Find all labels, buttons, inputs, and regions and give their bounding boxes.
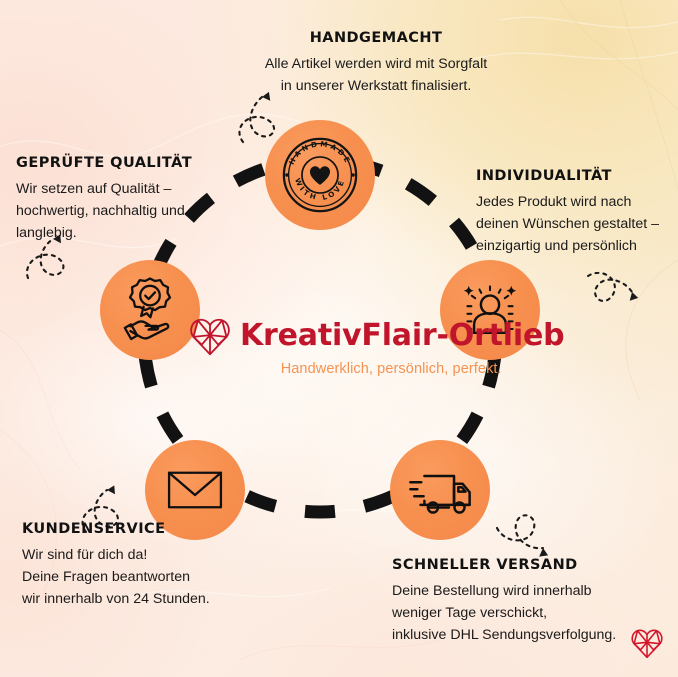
feature-title-individualitaet: INDIVIDUALITÄT <box>476 168 676 184</box>
feature-text-handgemacht: HANDGEMACHT Alle Artikel werden wird mit… <box>236 30 516 97</box>
node-handgemacht[interactable]: HANDMADE WITH LOVE <box>265 120 375 230</box>
feature-title-schneller-versand: SCHNELLER VERSAND <box>392 557 672 573</box>
feature-body-gepruefte-qualitaet: Wir setzen auf Qualität – hochwertig, na… <box>16 178 226 244</box>
faceted-heart-icon <box>188 316 232 356</box>
feature-text-individualitaet: INDIVIDUALITÄT Jedes Produkt wird nach d… <box>476 168 676 257</box>
hand-holding-quality-badge-icon <box>113 273 187 347</box>
feature-text-kundenservice: KUNDENSERVICE Wir sind für dich da! Dein… <box>22 521 252 610</box>
node-gepruefte-qualitaet[interactable] <box>100 260 200 360</box>
brand-tagline: Handwerklich, persönlich, perfekt. <box>281 361 502 377</box>
infographic-canvas: HANDMADE WITH LOVE <box>0 0 678 677</box>
delivery-truck-icon <box>401 451 479 529</box>
feature-title-handgemacht: HANDGEMACHT <box>236 30 516 46</box>
feature-title-kundenservice: KUNDENSERVICE <box>22 521 252 537</box>
brand-name: KreativFlair-Ortlieb <box>240 321 564 351</box>
feature-body-handgemacht: Alle Artikel werden wird mit Sorgfalt in… <box>236 53 516 97</box>
feature-body-kundenservice: Wir sind für dich da! Deine Fragen beant… <box>22 544 252 610</box>
feature-text-gepruefte-qualitaet: GEPRÜFTE QUALITÄT Wir setzen auf Qualitä… <box>16 155 226 244</box>
feature-body-individualitaet: Jedes Produkt wird nach deinen Wünschen … <box>476 191 676 257</box>
handmade-with-love-stamp-icon: HANDMADE WITH LOVE <box>277 132 363 218</box>
faceted-heart-icon <box>630 627 664 659</box>
envelope-icon <box>159 454 231 526</box>
feature-title-gepruefte-qualitaet: GEPRÜFTE QUALITÄT <box>16 155 226 171</box>
node-schneller-versand[interactable] <box>390 440 490 540</box>
brand-logo: KreativFlair-Ortlieb Handwerklich, persö… <box>188 316 564 377</box>
corner-watermark <box>630 627 664 663</box>
